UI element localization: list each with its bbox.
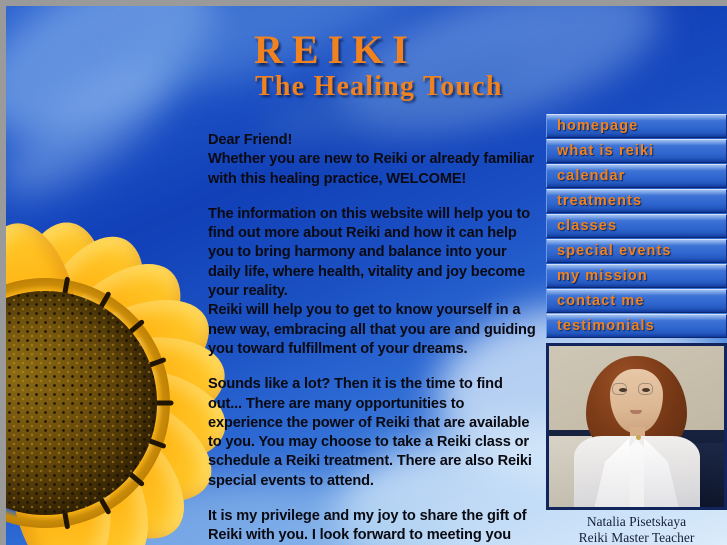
nav-item-label: my mission	[557, 268, 648, 284]
main-navigation: homepage what is reiki calendar treatmen…	[546, 114, 727, 339]
portrait-caption: Natalia Pisetskaya Reiki Master Teacher	[546, 514, 727, 545]
nav-item-label: testimonials	[557, 318, 655, 334]
nav-item-label: special events	[557, 243, 672, 259]
page-title: REIKI	[254, 26, 417, 73]
nav-item-contact-me[interactable]: contact me	[546, 289, 727, 313]
nav-item-label: what is reiki	[557, 143, 654, 159]
site-banner: REIKI The Healing Touch	[6, 6, 727, 110]
nav-item-label: treatments	[557, 193, 642, 209]
reiki-master-portrait-photo	[546, 343, 727, 510]
page-root: REIKI The Healing Touch Dear Friend!Whet…	[6, 6, 727, 545]
nav-item-what-is-reiki[interactable]: what is reiki	[546, 139, 727, 163]
nav-item-my-mission[interactable]: my mission	[546, 264, 727, 288]
paragraph-closing: It is my privilege and my joy to share t…	[208, 507, 538, 545]
main-content: Dear Friend!Whether you are new to Reiki…	[208, 131, 538, 545]
portrait-caption-role: Reiki Master Teacher	[546, 530, 727, 545]
nav-item-homepage[interactable]: homepage	[546, 114, 727, 138]
browser-viewport: REIKI The Healing Touch Dear Friend!Whet…	[0, 0, 727, 545]
nav-item-special-events[interactable]: special events	[546, 239, 727, 263]
portrait-block: Natalia Pisetskaya Reiki Master Teacher	[546, 343, 727, 545]
paragraph-greeting: Dear Friend!Whether you are new to Reiki…	[208, 131, 538, 189]
nav-item-calendar[interactable]: calendar	[546, 164, 727, 188]
nav-item-treatments[interactable]: treatments	[546, 189, 727, 213]
nav-item-label: contact me	[557, 293, 645, 309]
page-subtitle: The Healing Touch	[255, 71, 503, 103]
nav-item-label: classes	[557, 218, 617, 234]
nav-item-label: homepage	[557, 118, 638, 134]
nav-item-testimonials[interactable]: testimonials	[546, 314, 727, 338]
portrait-caption-name: Natalia Pisetskaya	[546, 514, 727, 530]
nav-item-label: calendar	[557, 168, 625, 184]
paragraph-opportunities: Sounds like a lot? Then it is the time t…	[208, 375, 538, 491]
nav-item-classes[interactable]: classes	[546, 214, 727, 238]
paragraph-about-website: The information on this website will hel…	[208, 205, 538, 359]
